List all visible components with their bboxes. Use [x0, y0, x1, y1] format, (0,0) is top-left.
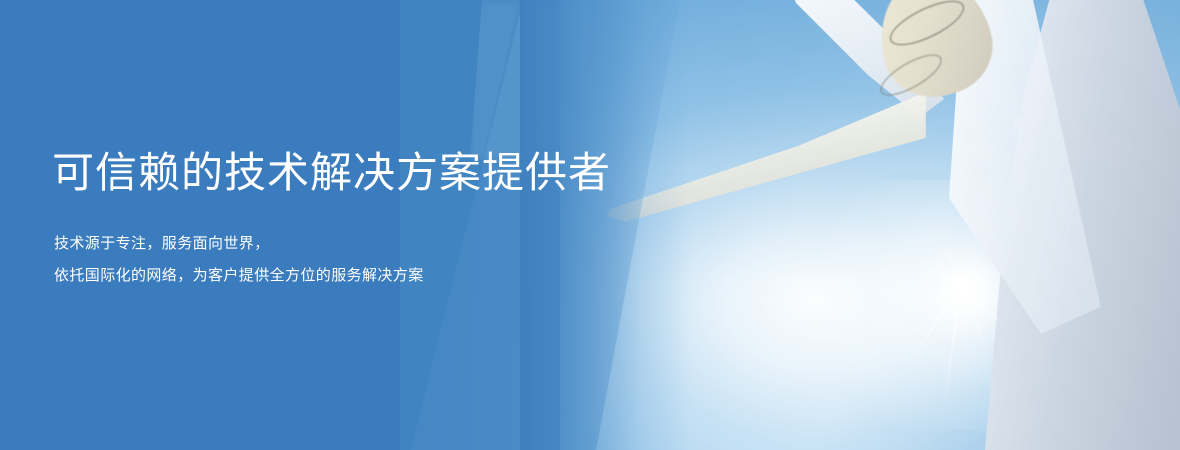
hero-banner: 可信赖的技术解决方案提供者 技术源于专注，服务面向世界， 依托国际化的网络，为客… — [0, 0, 1180, 450]
sun-ray-icon — [943, 286, 962, 405]
hero-text-block: 可信赖的技术解决方案提供者 技术源于专注，服务面向世界， 依托国际化的网络，为客… — [52, 0, 612, 450]
sun-core-icon — [950, 275, 972, 297]
hero-subtitle-line-1: 技术源于专注，服务面向世界， — [54, 236, 270, 251]
sun-ray-icon — [906, 285, 961, 366]
hero-subtitle-line-2: 依托国际化的网络，为客户提供全方位的服务解决方案 — [54, 268, 424, 283]
hero-headline: 可信赖的技术解决方案提供者 — [52, 152, 611, 194]
